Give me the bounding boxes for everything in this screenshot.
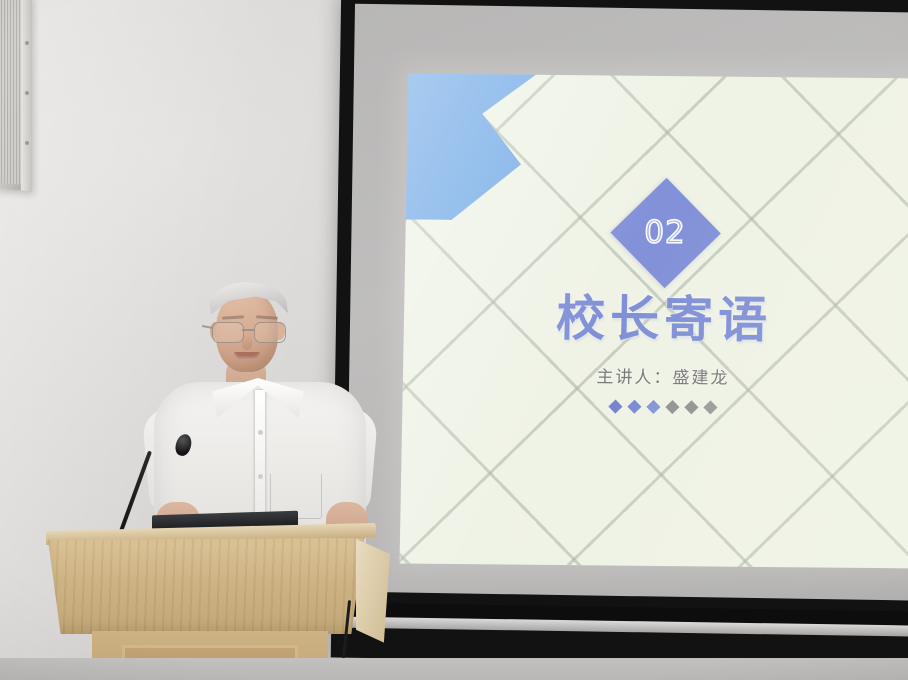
speaker-grille — [0, 0, 21, 185]
shirt-button — [258, 430, 263, 435]
wall-speaker-panel — [0, 0, 32, 191]
dot-3 — [646, 400, 660, 414]
left-lens — [212, 322, 244, 343]
dot-4 — [665, 400, 679, 414]
photo-scene: 02 校长寄语 主讲人：盛建龙 — [0, 0, 908, 680]
glasses-bridge — [242, 329, 254, 331]
glasses-temple — [202, 325, 213, 328]
dot-5 — [684, 401, 698, 415]
wood-grain — [48, 538, 364, 634]
section-number-text: 02 — [645, 217, 687, 248]
speaker-person — [150, 278, 370, 550]
section-number-badge: 02 — [610, 178, 720, 288]
floor-strip — [0, 658, 908, 680]
shirt-button — [258, 474, 263, 479]
lectern-side-face — [356, 539, 390, 647]
right-lens — [254, 322, 286, 343]
dot-1 — [608, 400, 622, 414]
speaker-screw — [25, 91, 29, 95]
dot-2 — [627, 400, 641, 414]
projected-slide: 02 校长寄语 主讲人：盛建龙 — [400, 74, 908, 569]
slide-subtitle: 主讲人：盛建龙 — [403, 361, 908, 391]
nose — [242, 334, 252, 350]
speaker-screw — [25, 141, 29, 145]
speaker-edge — [21, 0, 32, 191]
mouth — [234, 352, 260, 359]
speaker-screw — [25, 41, 29, 45]
slide-content: 02 校长寄语 主讲人：盛建龙 — [402, 192, 908, 415]
lectern-front-face — [48, 538, 364, 634]
dot-6 — [703, 401, 717, 415]
slide-title: 校长寄语 — [404, 292, 908, 348]
